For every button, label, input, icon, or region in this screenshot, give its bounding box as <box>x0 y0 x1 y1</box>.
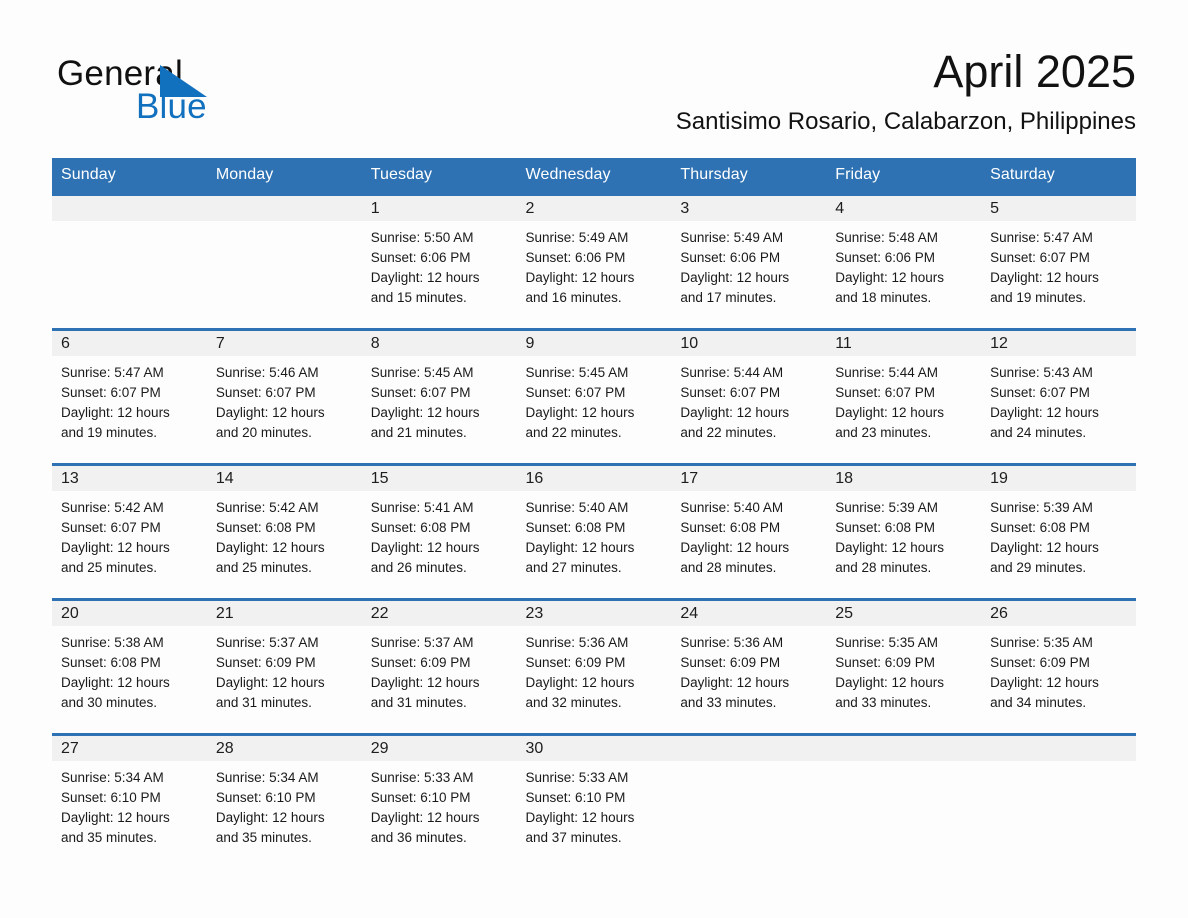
sunset-text: Sunset: 6:06 PM <box>680 248 818 268</box>
weekday-header-saturday: Saturday <box>981 158 1136 195</box>
daylight-text-line1: Daylight: 12 hours <box>216 403 354 423</box>
calendar-day-cell[interactable]: 14Sunrise: 5:42 AMSunset: 6:08 PMDayligh… <box>207 465 362 600</box>
day-number: 13 <box>52 466 207 491</box>
day-details: Sunrise: 5:35 AMSunset: 6:09 PMDaylight:… <box>826 626 981 713</box>
day-number: 23 <box>517 601 672 626</box>
calendar-week-row: 1Sunrise: 5:50 AMSunset: 6:06 PMDaylight… <box>52 195 1136 330</box>
sunset-text: Sunset: 6:07 PM <box>526 383 664 403</box>
day-details: Sunrise: 5:33 AMSunset: 6:10 PMDaylight:… <box>362 761 517 848</box>
calendar-day-cell[interactable]: 6Sunrise: 5:47 AMSunset: 6:07 PMDaylight… <box>52 330 207 465</box>
daylight-text-line2: and 35 minutes. <box>61 828 199 848</box>
page-title: April 2025 <box>336 44 1136 100</box>
day-details: Sunrise: 5:44 AMSunset: 6:07 PMDaylight:… <box>671 356 826 443</box>
sunset-text: Sunset: 6:09 PM <box>526 653 664 673</box>
day-number: 19 <box>981 466 1136 491</box>
day-cell-content: 28Sunrise: 5:34 AMSunset: 6:10 PMDayligh… <box>207 736 362 868</box>
sunrise-text: Sunrise: 5:49 AM <box>680 228 818 248</box>
day-number: 4 <box>826 196 981 221</box>
calendar-day-cell[interactable]: 16Sunrise: 5:40 AMSunset: 6:08 PMDayligh… <box>517 465 672 600</box>
day-number: 8 <box>362 331 517 356</box>
daylight-text-line2: and 25 minutes. <box>61 558 199 578</box>
day-number <box>981 736 1136 761</box>
day-number <box>207 196 362 221</box>
day-cell-content: 27Sunrise: 5:34 AMSunset: 6:10 PMDayligh… <box>52 736 207 868</box>
sunset-text: Sunset: 6:09 PM <box>835 653 973 673</box>
day-cell-content: 6Sunrise: 5:47 AMSunset: 6:07 PMDaylight… <box>52 331 207 463</box>
sunset-text: Sunset: 6:09 PM <box>680 653 818 673</box>
sunset-text: Sunset: 6:07 PM <box>61 383 199 403</box>
day-number: 20 <box>52 601 207 626</box>
brand-word-blue: Blue <box>136 87 207 127</box>
sunrise-text: Sunrise: 5:49 AM <box>526 228 664 248</box>
sunrise-text: Sunrise: 5:47 AM <box>61 363 199 383</box>
calendar-day-cell[interactable]: 24Sunrise: 5:36 AMSunset: 6:09 PMDayligh… <box>671 600 826 735</box>
daylight-text-line1: Daylight: 12 hours <box>61 538 199 558</box>
calendar-day-cell[interactable]: 26Sunrise: 5:35 AMSunset: 6:09 PMDayligh… <box>981 600 1136 735</box>
daylight-text-line2: and 18 minutes. <box>835 288 973 308</box>
calendar-day-cell <box>207 195 362 330</box>
sunset-text: Sunset: 6:08 PM <box>526 518 664 538</box>
daylight-text-line2: and 25 minutes. <box>216 558 354 578</box>
sunrise-text: Sunrise: 5:39 AM <box>990 498 1128 518</box>
day-details: Sunrise: 5:49 AMSunset: 6:06 PMDaylight:… <box>517 221 672 308</box>
daylight-text-line2: and 22 minutes. <box>526 423 664 443</box>
day-details: Sunrise: 5:45 AMSunset: 6:07 PMDaylight:… <box>362 356 517 443</box>
daylight-text-line1: Daylight: 12 hours <box>835 673 973 693</box>
sunset-text: Sunset: 6:08 PM <box>835 518 973 538</box>
sunset-text: Sunset: 6:06 PM <box>835 248 973 268</box>
sunrise-text: Sunrise: 5:39 AM <box>835 498 973 518</box>
daylight-text-line2: and 28 minutes. <box>835 558 973 578</box>
day-cell-content: 17Sunrise: 5:40 AMSunset: 6:08 PMDayligh… <box>671 466 826 598</box>
sunset-text: Sunset: 6:06 PM <box>526 248 664 268</box>
daylight-text-line1: Daylight: 12 hours <box>371 673 509 693</box>
day-details: Sunrise: 5:42 AMSunset: 6:07 PMDaylight:… <box>52 491 207 578</box>
daylight-text-line1: Daylight: 12 hours <box>216 808 354 828</box>
day-number: 11 <box>826 331 981 356</box>
sunrise-text: Sunrise: 5:45 AM <box>526 363 664 383</box>
day-cell-content: 30Sunrise: 5:33 AMSunset: 6:10 PMDayligh… <box>517 736 672 868</box>
day-cell-content: 25Sunrise: 5:35 AMSunset: 6:09 PMDayligh… <box>826 601 981 733</box>
calendar-day-cell[interactable]: 23Sunrise: 5:36 AMSunset: 6:09 PMDayligh… <box>517 600 672 735</box>
sunset-text: Sunset: 6:08 PM <box>371 518 509 538</box>
sunrise-text: Sunrise: 5:46 AM <box>216 363 354 383</box>
daylight-text-line1: Daylight: 12 hours <box>835 268 973 288</box>
day-details: Sunrise: 5:35 AMSunset: 6:09 PMDaylight:… <box>981 626 1136 713</box>
day-details: Sunrise: 5:34 AMSunset: 6:10 PMDaylight:… <box>52 761 207 848</box>
daylight-text-line1: Daylight: 12 hours <box>835 538 973 558</box>
day-number <box>671 736 826 761</box>
day-details: Sunrise: 5:46 AMSunset: 6:07 PMDaylight:… <box>207 356 362 443</box>
calendar-day-cell[interactable]: 8Sunrise: 5:45 AMSunset: 6:07 PMDaylight… <box>362 330 517 465</box>
daylight-text-line2: and 32 minutes. <box>526 693 664 713</box>
calendar-week-row: 13Sunrise: 5:42 AMSunset: 6:07 PMDayligh… <box>52 465 1136 600</box>
calendar-header-row: Sunday Monday Tuesday Wednesday Thursday… <box>52 158 1136 195</box>
calendar-page: General Blue April 2025 Santisimo Rosari… <box>0 0 1188 918</box>
day-details: Sunrise: 5:48 AMSunset: 6:06 PMDaylight:… <box>826 221 981 308</box>
day-number: 24 <box>671 601 826 626</box>
day-details: Sunrise: 5:43 AMSunset: 6:07 PMDaylight:… <box>981 356 1136 443</box>
calendar-day-cell[interactable]: 1Sunrise: 5:50 AMSunset: 6:06 PMDaylight… <box>362 195 517 330</box>
sunset-text: Sunset: 6:07 PM <box>61 518 199 538</box>
day-cell-content: 14Sunrise: 5:42 AMSunset: 6:08 PMDayligh… <box>207 466 362 598</box>
calendar-day-cell[interactable]: 18Sunrise: 5:39 AMSunset: 6:08 PMDayligh… <box>826 465 981 600</box>
sunset-text: Sunset: 6:09 PM <box>216 653 354 673</box>
day-details: Sunrise: 5:40 AMSunset: 6:08 PMDaylight:… <box>671 491 826 578</box>
day-details: Sunrise: 5:49 AMSunset: 6:06 PMDaylight:… <box>671 221 826 308</box>
sunset-text: Sunset: 6:10 PM <box>526 788 664 808</box>
daylight-text-line2: and 37 minutes. <box>526 828 664 848</box>
day-number: 6 <box>52 331 207 356</box>
sunrise-text: Sunrise: 5:35 AM <box>990 633 1128 653</box>
sunrise-text: Sunrise: 5:44 AM <box>835 363 973 383</box>
calendar-week-row: 27Sunrise: 5:34 AMSunset: 6:10 PMDayligh… <box>52 735 1136 869</box>
day-details: Sunrise: 5:39 AMSunset: 6:08 PMDaylight:… <box>826 491 981 578</box>
day-cell-content: 16Sunrise: 5:40 AMSunset: 6:08 PMDayligh… <box>517 466 672 598</box>
sunset-text: Sunset: 6:08 PM <box>990 518 1128 538</box>
daylight-text-line2: and 22 minutes. <box>680 423 818 443</box>
day-number: 25 <box>826 601 981 626</box>
daylight-text-line2: and 24 minutes. <box>990 423 1128 443</box>
daylight-text-line2: and 15 minutes. <box>371 288 509 308</box>
day-number: 5 <box>981 196 1136 221</box>
day-cell-content <box>826 736 981 868</box>
daylight-text-line2: and 29 minutes. <box>990 558 1128 578</box>
day-number: 9 <box>517 331 672 356</box>
sunrise-text: Sunrise: 5:44 AM <box>680 363 818 383</box>
sunrise-text: Sunrise: 5:37 AM <box>371 633 509 653</box>
calendar-day-cell[interactable]: 19Sunrise: 5:39 AMSunset: 6:08 PMDayligh… <box>981 465 1136 600</box>
weekday-header-friday: Friday <box>826 158 981 195</box>
calendar-day-cell[interactable]: 21Sunrise: 5:37 AMSunset: 6:09 PMDayligh… <box>207 600 362 735</box>
daylight-text-line2: and 36 minutes. <box>371 828 509 848</box>
calendar-day-cell[interactable]: 30Sunrise: 5:33 AMSunset: 6:10 PMDayligh… <box>517 735 672 869</box>
sunset-text: Sunset: 6:07 PM <box>216 383 354 403</box>
daylight-text-line2: and 19 minutes. <box>990 288 1128 308</box>
sunset-text: Sunset: 6:06 PM <box>371 248 509 268</box>
calendar-day-cell[interactable]: 2Sunrise: 5:49 AMSunset: 6:06 PMDaylight… <box>517 195 672 330</box>
daylight-text-line1: Daylight: 12 hours <box>216 538 354 558</box>
day-details: Sunrise: 5:38 AMSunset: 6:08 PMDaylight:… <box>52 626 207 713</box>
daylight-text-line1: Daylight: 12 hours <box>990 538 1128 558</box>
daylight-text-line1: Daylight: 12 hours <box>526 673 664 693</box>
sunrise-text: Sunrise: 5:36 AM <box>680 633 818 653</box>
daylight-text-line2: and 31 minutes. <box>371 693 509 713</box>
daylight-text-line2: and 34 minutes. <box>990 693 1128 713</box>
daylight-text-line2: and 21 minutes. <box>371 423 509 443</box>
daylight-text-line1: Daylight: 12 hours <box>371 808 509 828</box>
day-cell-content: 19Sunrise: 5:39 AMSunset: 6:08 PMDayligh… <box>981 466 1136 598</box>
day-cell-content: 21Sunrise: 5:37 AMSunset: 6:09 PMDayligh… <box>207 601 362 733</box>
day-number: 27 <box>52 736 207 761</box>
weekday-header-tuesday: Tuesday <box>362 158 517 195</box>
calendar-day-cell[interactable]: 10Sunrise: 5:44 AMSunset: 6:07 PMDayligh… <box>671 330 826 465</box>
weekday-header-wednesday: Wednesday <box>517 158 672 195</box>
day-details: Sunrise: 5:47 AMSunset: 6:07 PMDaylight:… <box>981 221 1136 308</box>
day-number: 1 <box>362 196 517 221</box>
day-cell-content: 9Sunrise: 5:45 AMSunset: 6:07 PMDaylight… <box>517 331 672 463</box>
calendar-day-cell <box>981 735 1136 869</box>
day-number: 16 <box>517 466 672 491</box>
daylight-text-line1: Daylight: 12 hours <box>990 673 1128 693</box>
daylight-text-line1: Daylight: 12 hours <box>680 268 818 288</box>
day-cell-content: 12Sunrise: 5:43 AMSunset: 6:07 PMDayligh… <box>981 331 1136 463</box>
day-number: 2 <box>517 196 672 221</box>
day-cell-content: 3Sunrise: 5:49 AMSunset: 6:06 PMDaylight… <box>671 196 826 328</box>
calendar-day-cell[interactable]: 7Sunrise: 5:46 AMSunset: 6:07 PMDaylight… <box>207 330 362 465</box>
day-cell-content <box>52 196 207 328</box>
daylight-text-line2: and 35 minutes. <box>216 828 354 848</box>
day-number: 14 <box>207 466 362 491</box>
day-details: Sunrise: 5:40 AMSunset: 6:08 PMDaylight:… <box>517 491 672 578</box>
day-details: Sunrise: 5:33 AMSunset: 6:10 PMDaylight:… <box>517 761 672 848</box>
sunrise-text: Sunrise: 5:34 AM <box>61 768 199 788</box>
daylight-text-line1: Daylight: 12 hours <box>61 403 199 423</box>
daylight-text-line1: Daylight: 12 hours <box>216 673 354 693</box>
day-details: Sunrise: 5:37 AMSunset: 6:09 PMDaylight:… <box>207 626 362 713</box>
day-details: Sunrise: 5:42 AMSunset: 6:08 PMDaylight:… <box>207 491 362 578</box>
daylight-text-line1: Daylight: 12 hours <box>990 268 1128 288</box>
day-cell-content: 2Sunrise: 5:49 AMSunset: 6:06 PMDaylight… <box>517 196 672 328</box>
sunrise-text: Sunrise: 5:36 AM <box>526 633 664 653</box>
sunset-text: Sunset: 6:08 PM <box>216 518 354 538</box>
calendar-day-cell[interactable]: 3Sunrise: 5:49 AMSunset: 6:06 PMDaylight… <box>671 195 826 330</box>
daylight-text-line1: Daylight: 12 hours <box>371 538 509 558</box>
day-number <box>826 736 981 761</box>
daylight-text-line2: and 17 minutes. <box>680 288 818 308</box>
day-cell-content: 22Sunrise: 5:37 AMSunset: 6:09 PMDayligh… <box>362 601 517 733</box>
sunrise-text: Sunrise: 5:33 AM <box>526 768 664 788</box>
calendar-day-cell[interactable]: 15Sunrise: 5:41 AMSunset: 6:08 PMDayligh… <box>362 465 517 600</box>
daylight-text-line2: and 28 minutes. <box>680 558 818 578</box>
page-header: General Blue April 2025 Santisimo Rosari… <box>52 44 1136 148</box>
day-details: Sunrise: 5:37 AMSunset: 6:09 PMDaylight:… <box>362 626 517 713</box>
sunset-text: Sunset: 6:08 PM <box>61 653 199 673</box>
day-cell-content: 26Sunrise: 5:35 AMSunset: 6:09 PMDayligh… <box>981 601 1136 733</box>
daylight-text-line1: Daylight: 12 hours <box>526 268 664 288</box>
sunset-text: Sunset: 6:10 PM <box>371 788 509 808</box>
day-cell-content <box>207 196 362 328</box>
day-number: 22 <box>362 601 517 626</box>
location-subtitle: Santisimo Rosario, Calabarzon, Philippin… <box>336 108 1136 136</box>
day-number: 29 <box>362 736 517 761</box>
day-cell-content: 13Sunrise: 5:42 AMSunset: 6:07 PMDayligh… <box>52 466 207 598</box>
sunset-text: Sunset: 6:07 PM <box>835 383 973 403</box>
day-number: 3 <box>671 196 826 221</box>
day-number: 21 <box>207 601 362 626</box>
daylight-text-line2: and 16 minutes. <box>526 288 664 308</box>
day-details: Sunrise: 5:50 AMSunset: 6:06 PMDaylight:… <box>362 221 517 308</box>
calendar-week-row: 6Sunrise: 5:47 AMSunset: 6:07 PMDaylight… <box>52 330 1136 465</box>
sunrise-text: Sunrise: 5:41 AM <box>371 498 509 518</box>
daylight-text-line1: Daylight: 12 hours <box>835 403 973 423</box>
calendar-day-cell[interactable]: 29Sunrise: 5:33 AMSunset: 6:10 PMDayligh… <box>362 735 517 869</box>
sunset-text: Sunset: 6:09 PM <box>371 653 509 673</box>
sunrise-text: Sunrise: 5:40 AM <box>680 498 818 518</box>
day-details: Sunrise: 5:36 AMSunset: 6:09 PMDaylight:… <box>517 626 672 713</box>
sunset-text: Sunset: 6:07 PM <box>680 383 818 403</box>
daylight-text-line1: Daylight: 12 hours <box>526 403 664 423</box>
sunrise-text: Sunrise: 5:34 AM <box>216 768 354 788</box>
sunset-text: Sunset: 6:10 PM <box>216 788 354 808</box>
daylight-text-line2: and 19 minutes. <box>61 423 199 443</box>
sunset-text: Sunset: 6:07 PM <box>371 383 509 403</box>
day-details: Sunrise: 5:45 AMSunset: 6:07 PMDaylight:… <box>517 356 672 443</box>
title-block: April 2025 Santisimo Rosario, Calabarzon… <box>336 44 1136 136</box>
sunset-text: Sunset: 6:07 PM <box>990 248 1128 268</box>
day-number: 30 <box>517 736 672 761</box>
day-cell-content: 5Sunrise: 5:47 AMSunset: 6:07 PMDaylight… <box>981 196 1136 328</box>
day-cell-content: 23Sunrise: 5:36 AMSunset: 6:09 PMDayligh… <box>517 601 672 733</box>
day-number: 17 <box>671 466 826 491</box>
day-cell-content: 15Sunrise: 5:41 AMSunset: 6:08 PMDayligh… <box>362 466 517 598</box>
day-number: 15 <box>362 466 517 491</box>
day-number: 12 <box>981 331 1136 356</box>
calendar-day-cell[interactable]: 11Sunrise: 5:44 AMSunset: 6:07 PMDayligh… <box>826 330 981 465</box>
sunrise-text: Sunrise: 5:45 AM <box>371 363 509 383</box>
daylight-text-line2: and 20 minutes. <box>216 423 354 443</box>
calendar-day-cell[interactable]: 20Sunrise: 5:38 AMSunset: 6:08 PMDayligh… <box>52 600 207 735</box>
day-details: Sunrise: 5:39 AMSunset: 6:08 PMDaylight:… <box>981 491 1136 578</box>
calendar-table: Sunday Monday Tuesday Wednesday Thursday… <box>52 158 1136 868</box>
day-cell-content <box>981 736 1136 868</box>
daylight-text-line2: and 30 minutes. <box>61 693 199 713</box>
calendar-week-row: 20Sunrise: 5:38 AMSunset: 6:08 PMDayligh… <box>52 600 1136 735</box>
day-cell-content: 24Sunrise: 5:36 AMSunset: 6:09 PMDayligh… <box>671 601 826 733</box>
calendar-day-cell[interactable]: 27Sunrise: 5:34 AMSunset: 6:10 PMDayligh… <box>52 735 207 869</box>
sunrise-text: Sunrise: 5:33 AM <box>371 768 509 788</box>
calendar-day-cell[interactable]: 25Sunrise: 5:35 AMSunset: 6:09 PMDayligh… <box>826 600 981 735</box>
day-details: Sunrise: 5:34 AMSunset: 6:10 PMDaylight:… <box>207 761 362 848</box>
daylight-text-line1: Daylight: 12 hours <box>680 673 818 693</box>
daylight-text-line1: Daylight: 12 hours <box>526 538 664 558</box>
day-cell-content: 11Sunrise: 5:44 AMSunset: 6:07 PMDayligh… <box>826 331 981 463</box>
daylight-text-line1: Daylight: 12 hours <box>371 268 509 288</box>
daylight-text-line1: Daylight: 12 hours <box>990 403 1128 423</box>
sunrise-text: Sunrise: 5:47 AM <box>990 228 1128 248</box>
day-cell-content: 1Sunrise: 5:50 AMSunset: 6:06 PMDaylight… <box>362 196 517 328</box>
sunset-text: Sunset: 6:08 PM <box>680 518 818 538</box>
weekday-header-monday: Monday <box>207 158 362 195</box>
day-cell-content: 7Sunrise: 5:46 AMSunset: 6:07 PMDaylight… <box>207 331 362 463</box>
sunset-text: Sunset: 6:09 PM <box>990 653 1128 673</box>
calendar-day-cell[interactable]: 4Sunrise: 5:48 AMSunset: 6:06 PMDaylight… <box>826 195 981 330</box>
calendar-day-cell[interactable]: 17Sunrise: 5:40 AMSunset: 6:08 PMDayligh… <box>671 465 826 600</box>
day-number <box>52 196 207 221</box>
sunrise-text: Sunrise: 5:42 AM <box>61 498 199 518</box>
day-cell-content: 18Sunrise: 5:39 AMSunset: 6:08 PMDayligh… <box>826 466 981 598</box>
calendar-day-cell[interactable]: 5Sunrise: 5:47 AMSunset: 6:07 PMDaylight… <box>981 195 1136 330</box>
day-details: Sunrise: 5:41 AMSunset: 6:08 PMDaylight:… <box>362 491 517 578</box>
calendar-day-cell <box>826 735 981 869</box>
daylight-text-line1: Daylight: 12 hours <box>61 808 199 828</box>
daylight-text-line1: Daylight: 12 hours <box>371 403 509 423</box>
day-number: 28 <box>207 736 362 761</box>
calendar-day-cell <box>52 195 207 330</box>
daylight-text-line1: Daylight: 12 hours <box>526 808 664 828</box>
calendar-day-cell[interactable]: 22Sunrise: 5:37 AMSunset: 6:09 PMDayligh… <box>362 600 517 735</box>
weekday-header-sunday: Sunday <box>52 158 207 195</box>
day-number: 26 <box>981 601 1136 626</box>
daylight-text-line1: Daylight: 12 hours <box>680 538 818 558</box>
general-blue-logo[interactable]: General Blue <box>57 54 357 144</box>
daylight-text-line2: and 26 minutes. <box>371 558 509 578</box>
daylight-text-line2: and 31 minutes. <box>216 693 354 713</box>
sunrise-text: Sunrise: 5:42 AM <box>216 498 354 518</box>
daylight-text-line1: Daylight: 12 hours <box>680 403 818 423</box>
day-number: 7 <box>207 331 362 356</box>
sunrise-text: Sunrise: 5:40 AM <box>526 498 664 518</box>
sunrise-text: Sunrise: 5:43 AM <box>990 363 1128 383</box>
daylight-text-line1: Daylight: 12 hours <box>61 673 199 693</box>
weekday-header-thursday: Thursday <box>671 158 826 195</box>
day-cell-content: 20Sunrise: 5:38 AMSunset: 6:08 PMDayligh… <box>52 601 207 733</box>
sunset-text: Sunset: 6:10 PM <box>61 788 199 808</box>
sunrise-text: Sunrise: 5:35 AM <box>835 633 973 653</box>
day-details: Sunrise: 5:36 AMSunset: 6:09 PMDaylight:… <box>671 626 826 713</box>
calendar-body: 1Sunrise: 5:50 AMSunset: 6:06 PMDaylight… <box>52 195 1136 869</box>
calendar-day-cell[interactable]: 13Sunrise: 5:42 AMSunset: 6:07 PMDayligh… <box>52 465 207 600</box>
sunrise-text: Sunrise: 5:37 AM <box>216 633 354 653</box>
sunrise-text: Sunrise: 5:48 AM <box>835 228 973 248</box>
daylight-text-line2: and 33 minutes. <box>680 693 818 713</box>
day-cell-content <box>671 736 826 868</box>
day-number: 10 <box>671 331 826 356</box>
day-cell-content: 29Sunrise: 5:33 AMSunset: 6:10 PMDayligh… <box>362 736 517 868</box>
calendar-day-cell[interactable]: 12Sunrise: 5:43 AMSunset: 6:07 PMDayligh… <box>981 330 1136 465</box>
day-details: Sunrise: 5:47 AMSunset: 6:07 PMDaylight:… <box>52 356 207 443</box>
day-number: 18 <box>826 466 981 491</box>
sunrise-text: Sunrise: 5:38 AM <box>61 633 199 653</box>
calendar-day-cell[interactable]: 28Sunrise: 5:34 AMSunset: 6:10 PMDayligh… <box>207 735 362 869</box>
sunrise-text: Sunrise: 5:50 AM <box>371 228 509 248</box>
sunset-text: Sunset: 6:07 PM <box>990 383 1128 403</box>
day-cell-content: 8Sunrise: 5:45 AMSunset: 6:07 PMDaylight… <box>362 331 517 463</box>
daylight-text-line2: and 23 minutes. <box>835 423 973 443</box>
day-details: Sunrise: 5:44 AMSunset: 6:07 PMDaylight:… <box>826 356 981 443</box>
daylight-text-line2: and 27 minutes. <box>526 558 664 578</box>
day-cell-content: 4Sunrise: 5:48 AMSunset: 6:06 PMDaylight… <box>826 196 981 328</box>
day-cell-content: 10Sunrise: 5:44 AMSunset: 6:07 PMDayligh… <box>671 331 826 463</box>
calendar-day-cell <box>671 735 826 869</box>
calendar-day-cell[interactable]: 9Sunrise: 5:45 AMSunset: 6:07 PMDaylight… <box>517 330 672 465</box>
daylight-text-line2: and 33 minutes. <box>835 693 973 713</box>
